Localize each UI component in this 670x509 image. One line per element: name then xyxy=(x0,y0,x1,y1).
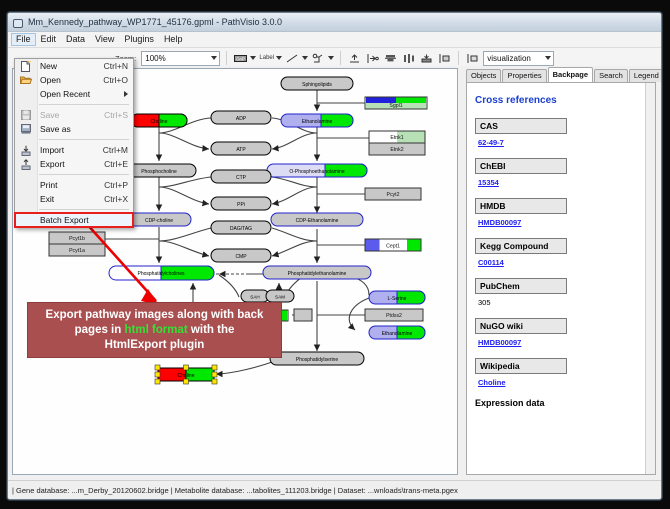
menu-help[interactable]: Help xyxy=(159,33,188,46)
gene-cept1: Cept1 xyxy=(365,239,421,251)
title-bar: Mm_Kennedy_pathway_WP1771_45176.gpml - P… xyxy=(8,13,661,32)
xref-value-hmdb[interactable]: HMDB00097 xyxy=(478,218,647,227)
backpage-scrollbar[interactable] xyxy=(645,83,655,474)
receptor-dropdown-icon[interactable] xyxy=(328,56,334,60)
svg-text:Ethanolamine: Ethanolamine xyxy=(382,331,413,337)
xref-source-cas: CAS xyxy=(475,118,567,134)
menu-separator-2 xyxy=(39,139,129,140)
menu-item-save-accel: Ctrl+S xyxy=(104,110,128,120)
cross-references-heading: Cross references xyxy=(475,95,647,106)
svg-text:ATP: ATP xyxy=(236,147,246,153)
screenshot-root: Mm_Kennedy_pathway_WP1771_45176.gpml - P… xyxy=(0,0,670,509)
menu-data[interactable]: Data xyxy=(61,33,90,46)
pathvisio-window: Mm_Kennedy_pathway_WP1771_45176.gpml - P… xyxy=(7,12,662,500)
toolbar-separator-2 xyxy=(340,51,341,65)
datanode-tool-icon[interactable]: GnP xyxy=(233,51,248,66)
callout-line-3: HtmlExport plugin xyxy=(105,338,205,353)
node-cdp-ethanolamine: CDP-Ethanolamine xyxy=(271,213,363,226)
svg-text:Phosphatidylserine: Phosphatidylserine xyxy=(296,357,338,363)
gene-pcyt2: Pcyt2 xyxy=(365,188,421,200)
menu-item-import-label: Import xyxy=(40,145,64,155)
import-icon xyxy=(19,145,32,156)
menu-item-batch-export-label: Batch Export xyxy=(40,215,89,225)
callout-line-2: pages in html format with the xyxy=(75,323,235,338)
node-sah: SAH xyxy=(241,290,269,302)
svg-text:Ethanolamine: Ethanolamine xyxy=(302,119,333,125)
svg-text:Pcyt1b: Pcyt1b xyxy=(69,236,85,242)
menu-item-new-accel: Ctrl+N xyxy=(104,61,128,71)
xref-source-hmdb: HMDB xyxy=(475,198,567,214)
gene-pcyt1b: Pcyt1b xyxy=(49,232,105,244)
svg-text:Etnk1: Etnk1 xyxy=(390,135,403,141)
tab-backpage[interactable]: Backpage xyxy=(548,67,593,82)
svg-text:Phosphocholine: Phosphocholine xyxy=(141,169,177,175)
expression-data-heading: Expression data xyxy=(475,398,647,408)
menu-item-exit-accel: Ctrl+X xyxy=(104,194,128,204)
save-disk-icon xyxy=(19,110,32,121)
menu-item-print[interactable]: Print Ctrl+P xyxy=(15,178,133,192)
node-atp: ATP xyxy=(211,142,271,155)
toolbar-separator-3 xyxy=(458,51,459,65)
menu-file[interactable]: File xyxy=(11,33,36,46)
svg-text:Phosphatidylethanolamine: Phosphatidylethanolamine xyxy=(288,271,347,277)
visualization-icon[interactable] xyxy=(465,51,480,66)
side-panel: Objects Properties Backpage Search Legen… xyxy=(460,68,658,475)
xref-value-chebi[interactable]: 15354 xyxy=(478,178,647,187)
menu-item-save-as-label: Save as xyxy=(40,124,71,134)
xref-value-pubchem: 305 xyxy=(478,298,647,307)
new-file-icon xyxy=(19,61,32,72)
side-panel-tabs: Objects Properties Backpage Search Legen… xyxy=(460,68,658,82)
node-ethanolamine-top: Ethanolamine xyxy=(281,114,353,127)
svg-text:CDP-choline: CDP-choline xyxy=(145,218,173,224)
node-sam: SAM xyxy=(266,290,294,302)
menu-item-print-label: Print xyxy=(40,180,57,190)
status-bar: | Gene database: ...m_Derby_20120602.bri… xyxy=(8,480,661,499)
datanode-dropdown-icon[interactable] xyxy=(250,56,256,60)
callout-line-2-b: with the xyxy=(188,324,235,336)
svg-text:Pcyt1a: Pcyt1a xyxy=(69,248,85,254)
menu-separator-4 xyxy=(39,209,129,210)
tab-objects[interactable]: Objects xyxy=(466,69,501,82)
file-menu-dropdown[interactable]: New Ctrl+N Open Ctrl+O Open Recent Save xyxy=(14,58,134,228)
menu-item-save: Save Ctrl+S xyxy=(15,108,133,122)
svg-text:CMP: CMP xyxy=(235,254,247,260)
menu-item-new[interactable]: New Ctrl+N xyxy=(15,59,133,73)
node-adp: ADP xyxy=(211,111,271,124)
svg-text:Etnk2: Etnk2 xyxy=(390,147,403,153)
svg-text:DAG/TAG: DAG/TAG xyxy=(230,226,252,232)
svg-text:GnP: GnP xyxy=(237,56,246,61)
menu-plugins[interactable]: Plugins xyxy=(119,33,159,46)
gene-pisd xyxy=(294,309,312,321)
xref-source-kegg: Kegg Compound xyxy=(475,238,567,254)
visualization-combo[interactable]: visualization xyxy=(483,51,554,66)
gene-etnk2: Etnk2 xyxy=(369,143,425,155)
gene-ptdss2: Ptdss2 xyxy=(365,309,423,321)
node-sphingolipids: Sphingolipids xyxy=(281,77,353,90)
xref-source-chebi: ChEBI xyxy=(475,158,567,174)
xref-source-nugo: NuGO wiki xyxy=(475,318,567,334)
tab-legend[interactable]: Legend xyxy=(629,69,662,82)
node-choline-bottom: Choline xyxy=(155,365,217,384)
xref-value-nugo[interactable]: HMDB00097 xyxy=(478,338,647,347)
gene-etnk1: Etnk1 xyxy=(369,131,425,143)
callout-line-1: Export pathway images along with back xyxy=(46,308,264,323)
svg-text:Sphingolipids: Sphingolipids xyxy=(302,82,332,88)
menu-item-open[interactable]: Open Ctrl+O xyxy=(15,73,133,87)
svg-text:CDP-Ethanolamine: CDP-Ethanolamine xyxy=(296,218,339,224)
pathvisio-icon xyxy=(12,17,23,28)
menu-item-save-label: Save xyxy=(40,110,59,120)
zoom-value: 100% xyxy=(145,54,165,63)
menu-item-export[interactable]: Export Ctrl+E xyxy=(15,157,133,171)
xref-value-kegg[interactable]: C00114 xyxy=(478,258,647,267)
menu-item-open-recent-label: Open Recent xyxy=(40,89,90,99)
menu-separator-3 xyxy=(39,174,129,175)
menu-item-export-label: Export xyxy=(40,159,65,169)
svg-text:Pcyt2: Pcyt2 xyxy=(387,192,400,198)
svg-text:L-Serine: L-Serine xyxy=(388,296,407,302)
node-phosphatidylserine: Phosphatidylserine xyxy=(270,352,364,365)
node-cmp: CMP xyxy=(211,249,271,262)
backpage-content: Cross references CAS 62-49-7 ChEBI 15354… xyxy=(466,82,656,475)
line-dropdown-icon[interactable] xyxy=(302,56,308,60)
align-middle-icon[interactable] xyxy=(383,51,398,66)
menu-item-batch-export[interactable]: Batch Export xyxy=(15,213,133,227)
node-ctp: CTP xyxy=(211,170,271,183)
menu-item-open-label: Open xyxy=(40,75,61,85)
export-icon xyxy=(19,159,32,170)
label-tool-icon[interactable]: Label xyxy=(259,51,274,66)
stack-icon[interactable] xyxy=(419,51,434,66)
line-tool-icon[interactable] xyxy=(285,51,300,66)
receptor-tool-icon[interactable] xyxy=(311,51,326,66)
node-choline-top: Choline xyxy=(131,114,187,127)
svg-text:Phosphatidylcholines: Phosphatidylcholines xyxy=(138,271,185,277)
xref-source-pubchem: PubChem xyxy=(475,278,567,294)
open-folder-icon xyxy=(19,75,32,86)
save-as-icon xyxy=(19,124,32,135)
submenu-arrow-icon xyxy=(124,91,128,97)
gene-pcyt1a: Pcyt1a xyxy=(49,244,105,256)
menu-separator-1 xyxy=(39,104,129,105)
node-phosphatidylethanolamine: Phosphatidylethanolamine xyxy=(263,266,371,279)
zoom-combo[interactable]: 100% xyxy=(141,51,220,66)
node-dag-tag: DAG/TAG xyxy=(211,221,271,234)
chevron-down-icon-2 xyxy=(545,56,551,60)
menu-item-new-label: New xyxy=(40,61,57,71)
callout-line-2-a: pages in xyxy=(75,324,125,336)
chevron-down-icon xyxy=(211,56,217,60)
menu-item-exit[interactable]: Exit Ctrl+X xyxy=(15,192,133,206)
tab-properties[interactable]: Properties xyxy=(502,69,546,82)
svg-text:Cept1: Cept1 xyxy=(386,243,400,249)
svg-text:PPi: PPi xyxy=(237,202,245,208)
label-tool-text: Label xyxy=(259,55,274,61)
visualization-value: visualization xyxy=(487,54,531,63)
svg-text:Ptdss2: Ptdss2 xyxy=(386,313,402,319)
menu-item-save-as[interactable]: Save as xyxy=(15,122,133,136)
node-l-serine: L-Serine xyxy=(369,291,425,304)
menu-view[interactable]: View xyxy=(90,33,119,46)
node-ppi: PPi xyxy=(211,197,271,210)
node-ethanolamine-bottom: Ethanolamine xyxy=(369,326,425,339)
xref-value-cas[interactable]: 62-49-7 xyxy=(478,138,647,147)
svg-text:CTP: CTP xyxy=(236,175,247,181)
status-text: | Gene database: ...m_Derby_20120602.bri… xyxy=(12,486,458,495)
menu-item-print-accel: Ctrl+P xyxy=(104,180,128,190)
svg-text:ADP: ADP xyxy=(236,116,247,122)
menu-edit[interactable]: Edit xyxy=(36,33,62,46)
toolbar-separator xyxy=(226,51,227,65)
node-cdp-choline: CDP-choline xyxy=(127,213,191,226)
svg-text:Sgpl1: Sgpl1 xyxy=(389,103,402,109)
menu-item-import-accel: Ctrl+M xyxy=(103,145,128,155)
menu-item-open-accel: Ctrl+O xyxy=(103,75,128,85)
window-title: Mm_Kennedy_pathway_WP1771_45176.gpml - P… xyxy=(28,17,282,27)
menu-item-import[interactable]: Import Ctrl+M xyxy=(15,143,133,157)
svg-text:Choline: Choline xyxy=(178,373,195,379)
menu-item-export-accel: Ctrl+E xyxy=(104,159,128,169)
tab-search[interactable]: Search xyxy=(594,69,628,82)
menu-item-exit-label: Exit xyxy=(40,194,54,204)
align-top-icon[interactable] xyxy=(347,51,362,66)
callout-highlight: html format xyxy=(124,324,187,336)
svg-text:Choline: Choline xyxy=(151,119,168,125)
distribute-icon[interactable] xyxy=(401,51,416,66)
svg-text:SAM: SAM xyxy=(275,294,285,299)
label-dropdown-icon[interactable] xyxy=(276,56,282,60)
annotation-callout: Export pathway images along with back pa… xyxy=(27,302,282,358)
node-o-phosphoethanolamine: O-Phosphoethanolamine xyxy=(267,164,367,177)
gene-sgpl1: Sgpl1 xyxy=(365,97,427,109)
menu-item-open-recent[interactable]: Open Recent xyxy=(15,87,133,101)
align-left-icon[interactable] xyxy=(365,51,380,66)
svg-text:SAH: SAH xyxy=(250,294,259,299)
xref-value-wikipedia[interactable]: Choline xyxy=(478,378,647,387)
same-width-icon[interactable] xyxy=(437,51,452,66)
svg-text:O-Phosphoethanolamine: O-Phosphoethanolamine xyxy=(289,169,345,175)
menu-bar: File Edit Data View Plugins Help xyxy=(8,32,661,48)
node-phosphatidylcholines: Phosphatidylcholines xyxy=(109,266,214,280)
xref-source-wikipedia: Wikipedia xyxy=(475,358,567,374)
